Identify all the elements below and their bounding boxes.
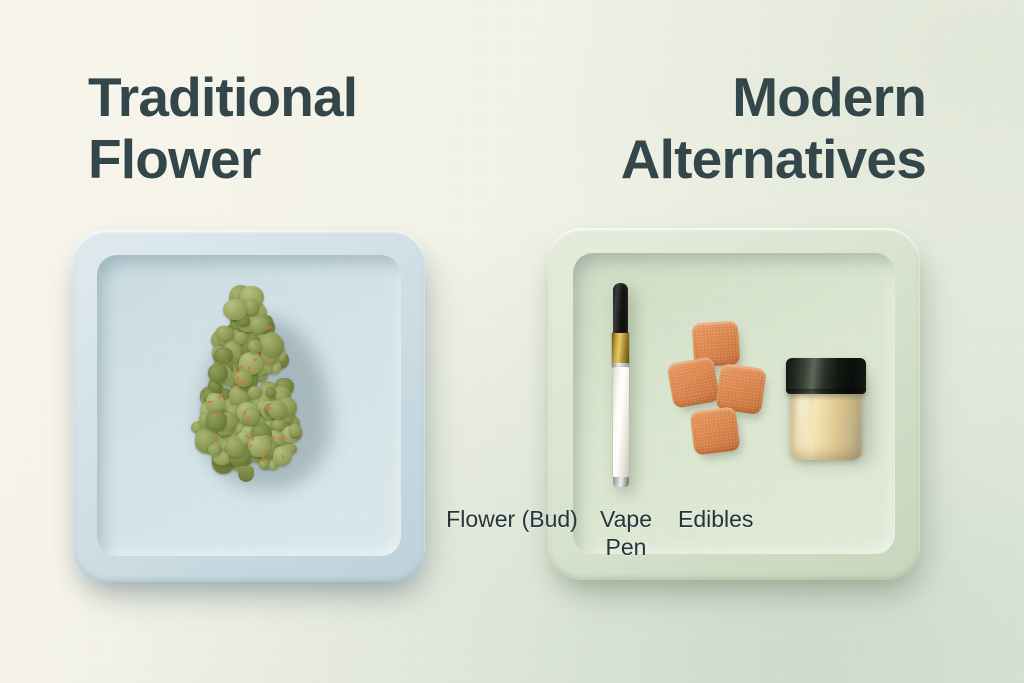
heading-traditional-flower: Traditional Flower: [88, 66, 357, 190]
vape-pen: [610, 283, 632, 491]
cannabis-bud-body: [176, 288, 322, 480]
vape-pen-base: [613, 477, 629, 487]
product-comparison-scene: Traditional Flower Modern Alternatives F…: [0, 0, 1024, 683]
label-edibles: Edibles: [678, 505, 753, 533]
cannabis-bud-pistil: [264, 360, 270, 363]
cannabis-bud-nugget: [215, 347, 233, 364]
concentrate-jar-lid: [786, 358, 866, 394]
cannabis-bud-nugget: [234, 332, 248, 344]
label-vape-pen: Vape Pen: [586, 505, 666, 561]
label-flower-bud: Flower (Bud): [0, 505, 1024, 533]
cannabis-bud-pistil: [251, 310, 253, 314]
cannabis-bud-pistil: [247, 416, 249, 422]
concentrate-jar: [786, 358, 866, 463]
cannabis-bud-nugget: [226, 437, 244, 457]
cannabis-bud-stem: [238, 466, 254, 482]
cannabis-bud-nugget: [289, 424, 302, 437]
cannabis-bud-nugget: [266, 387, 276, 398]
cannabis-bud-nugget: [208, 364, 228, 383]
cannabis-bud-nugget: [208, 444, 222, 456]
vape-pen-body: [613, 367, 629, 479]
cannabis-bud-pistil: [265, 450, 267, 454]
cannabis-bud-nugget: [248, 386, 262, 399]
heading-modern-alternatives: Modern Alternatives: [621, 66, 926, 190]
cannabis-bud-nugget: [223, 299, 248, 320]
vape-pen-mouthpiece: [613, 283, 628, 335]
concentrate-jar-glass: [790, 388, 862, 460]
edible-gummy: [689, 406, 740, 455]
cannabis-bud-nugget: [216, 326, 234, 340]
edible-gummy: [666, 356, 720, 408]
cannabis-bud-nugget: [260, 333, 282, 357]
cannabis-bud: [176, 288, 322, 480]
vape-pen-cartridge: [612, 333, 629, 365]
